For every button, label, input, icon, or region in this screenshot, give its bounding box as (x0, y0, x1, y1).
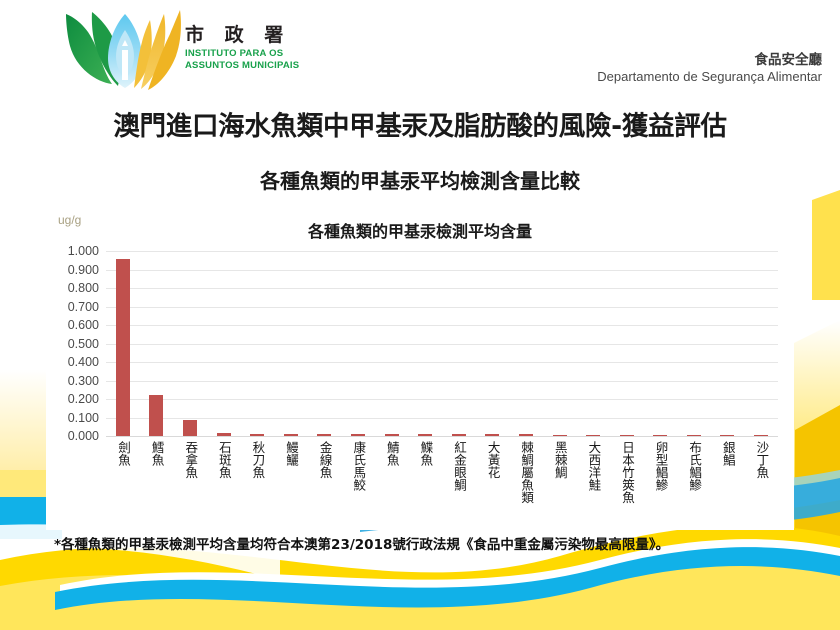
page-subtitle: 各種魚類的甲基汞平均檢測含量比較 (0, 165, 840, 194)
bar (217, 433, 231, 436)
bar (418, 434, 432, 436)
logo-pt-line-2: ASSUNTOS MUNICIPAIS (185, 60, 299, 72)
bar (687, 435, 701, 436)
bar-slot (106, 251, 140, 436)
y-axis-tick-label: 0.600 (68, 318, 99, 332)
x-axis-label-slot: 劍魚 (106, 441, 140, 504)
chart-plot-area: 1.0000.9000.8000.7000.6000.5000.4000.300… (106, 251, 778, 436)
x-axis-tick-label: 吞拿魚 (184, 441, 197, 504)
x-axis-tick-label: 沙丁魚 (755, 441, 768, 504)
logo-pt-line-1: INSTITUTO PARA OS (185, 48, 299, 60)
x-axis-tick-label: 紅金眼鯛 (452, 441, 465, 504)
bar-slot (476, 251, 510, 436)
x-axis-label-slot: 銀鯧 (711, 441, 745, 504)
bar-slot (207, 251, 241, 436)
x-axis-label-slot: 金線魚 (308, 441, 342, 504)
bar-slot (744, 251, 778, 436)
y-axis-tick-label: 0.700 (68, 300, 99, 314)
y-axis-tick-label: 0.400 (68, 355, 99, 369)
bar-slot (375, 251, 409, 436)
bar (351, 434, 365, 436)
x-axis-tick-label: 金線魚 (318, 441, 331, 504)
x-axis-tick-label: 銀鯧 (721, 441, 734, 504)
bar (250, 434, 264, 436)
x-axis-tick-label: 棘鯛屬魚類 (520, 441, 533, 504)
department-portuguese: Departamento de Segurança Alimentar (597, 69, 822, 85)
chart-title: 各種魚類的甲基汞檢測平均含量 (46, 218, 794, 242)
x-axis-tick-label: 鰻鱺 (285, 441, 298, 504)
bar-series (106, 251, 778, 436)
x-axis-label-slot: 沙丁魚 (744, 441, 778, 504)
y-axis-tick-label: 1.000 (68, 244, 99, 258)
y-axis-tick-label: 0.000 (68, 429, 99, 443)
bar-slot (610, 251, 644, 436)
x-axis-label-slot: 鰻鱺 (274, 441, 308, 504)
bar-slot (677, 251, 711, 436)
x-axis-label-slot: 大黃花 (476, 441, 510, 504)
x-axis-label-slot: 棘鯛屬魚類 (509, 441, 543, 504)
x-axis-tick-label: 大黃花 (486, 441, 499, 504)
logo-chinese-name: 市 政 署 (185, 26, 299, 46)
bar-slot (408, 251, 442, 436)
x-axis-label-slot: 康氏馬鮫 (341, 441, 375, 504)
x-axis-tick-label: 石斑魚 (217, 441, 230, 504)
bar (754, 435, 768, 436)
slide-header: 市 政 署 INSTITUTO PARA OS ASSUNTOS MUNICIP… (0, 0, 840, 96)
bar (620, 435, 634, 436)
bar (485, 434, 499, 436)
y-axis-tick-label: 0.100 (68, 411, 99, 425)
bar (149, 395, 163, 436)
bar (720, 435, 734, 436)
bar (385, 434, 399, 436)
x-axis-label-slot: 石斑魚 (207, 441, 241, 504)
x-axis-label-slot: 黑棘鯛 (543, 441, 577, 504)
x-axis-labels: 劍魚鱈魚吞拿魚石斑魚秋刀魚鰻鱺金線魚康氏馬鮫鯖魚鰈魚紅金眼鯛大黃花棘鯛屬魚類黑棘… (106, 441, 778, 504)
bar-slot (543, 251, 577, 436)
x-axis-label-slot: 秋刀魚 (240, 441, 274, 504)
bar-slot (711, 251, 745, 436)
department-block: 食品安全廳 Departamento de Segurança Alimenta… (597, 52, 822, 85)
x-axis-label-slot: 卵型鯧鰺 (644, 441, 678, 504)
x-axis-tick-label: 日本竹筴魚 (620, 441, 633, 504)
chart-panel: ug/g 各種魚類的甲基汞檢測平均含量 1.0000.9000.8000.700… (46, 205, 794, 530)
iam-logo (62, 6, 192, 90)
bar (653, 435, 667, 436)
bar (116, 259, 130, 436)
bar-slot (341, 251, 375, 436)
bar-slot (576, 251, 610, 436)
bar-slot (274, 251, 308, 436)
x-axis-label-slot: 布氏鯧鰺 (677, 441, 711, 504)
bar (183, 420, 197, 436)
x-axis-tick-label: 康氏馬鮫 (352, 441, 365, 504)
bar (586, 435, 600, 436)
x-axis-tick-label: 大西洋鮭 (587, 441, 600, 504)
bar-slot (240, 251, 274, 436)
x-axis-label-slot: 大西洋鮭 (576, 441, 610, 504)
department-chinese: 食品安全廳 (597, 52, 822, 68)
x-axis-tick-label: 鱈魚 (150, 441, 163, 504)
bar-slot (442, 251, 476, 436)
x-axis-tick-label: 鰈魚 (419, 441, 432, 504)
x-axis-tick-label: 秋刀魚 (251, 441, 264, 504)
y-axis-tick-label: 0.500 (68, 337, 99, 351)
x-axis-label-slot: 吞拿魚 (173, 441, 207, 504)
x-axis-label-slot: 鰈魚 (408, 441, 442, 504)
bar (452, 434, 466, 436)
bar (284, 434, 298, 436)
gridline: 0.000 (106, 436, 778, 437)
x-axis-label-slot: 鯖魚 (375, 441, 409, 504)
y-axis-tick-label: 0.800 (68, 281, 99, 295)
y-axis-tick-label: 0.900 (68, 263, 99, 277)
x-axis-tick-label: 劍魚 (117, 441, 130, 504)
footnote: *各種魚類的甲基汞檢測平均含量均符合本澳第23/2018號行政法規《食品中重金屬… (54, 536, 796, 556)
bar (519, 434, 533, 436)
y-axis-tick-label: 0.200 (68, 392, 99, 406)
y-axis-tick-label: 0.300 (68, 374, 99, 388)
bar-slot (173, 251, 207, 436)
x-axis-label-slot: 鱈魚 (140, 441, 174, 504)
page-title: 澳門進口海水魚類中甲基汞及脂肪酸的風險-獲益評估 (0, 104, 840, 143)
x-axis-tick-label: 鯖魚 (385, 441, 398, 504)
x-axis-tick-label: 布氏鯧鰺 (688, 441, 701, 504)
x-axis-tick-label: 卵型鯧鰺 (654, 441, 667, 504)
logo-portuguese-name: INSTITUTO PARA OS ASSUNTOS MUNICIPAIS (185, 48, 299, 72)
logo-mark-icon (62, 6, 192, 90)
bar-slot (644, 251, 678, 436)
x-axis-label-slot: 日本竹筴魚 (610, 441, 644, 504)
bar-slot (308, 251, 342, 436)
x-axis-label-slot: 紅金眼鯛 (442, 441, 476, 504)
bar-slot (509, 251, 543, 436)
bar (553, 435, 567, 436)
x-axis-tick-label: 黑棘鯛 (553, 441, 566, 504)
bar-slot (140, 251, 174, 436)
slide-canvas: 市 政 署 INSTITUTO PARA OS ASSUNTOS MUNICIP… (0, 0, 840, 630)
logo-wordmark: 市 政 署 INSTITUTO PARA OS ASSUNTOS MUNICIP… (185, 26, 299, 72)
bar (317, 434, 331, 436)
